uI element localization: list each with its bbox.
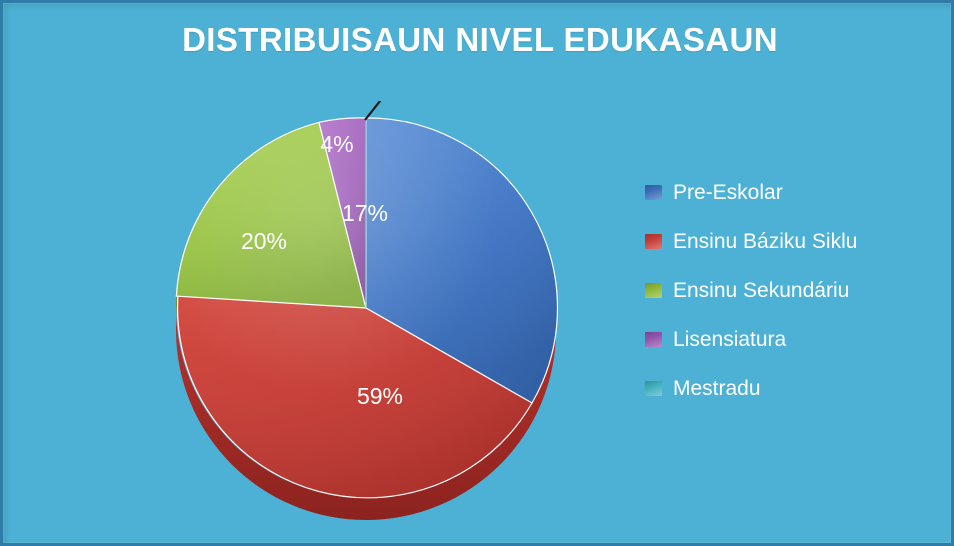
legend-swatch-icon-pre-eskolar bbox=[645, 185, 662, 200]
leader-line-mestradu bbox=[365, 101, 404, 120]
data-label-pre-eskolar: 17% bbox=[342, 200, 388, 226]
legend-item-ensinu-sekundariu[interactable]: Ensinu Sekundáriu bbox=[645, 266, 935, 315]
legend-swatch-icon-mestradu bbox=[645, 381, 662, 396]
legend-item-lisensiatura[interactable]: Lisensiatura bbox=[645, 315, 935, 364]
legend-swatch-icon-ensinu-baziku-siklu bbox=[645, 234, 662, 249]
legend-label-pre-eskolar: Pre-Eskolar bbox=[673, 182, 783, 203]
pie-gloss-overlay bbox=[176, 118, 556, 498]
legend-label-ensinu-baziku-siklu: Ensinu Báziku Siklu bbox=[673, 231, 857, 252]
legend-label-ensinu-sekundariu: Ensinu Sekundáriu bbox=[673, 280, 849, 301]
data-label-ensinu-baziku-siklu: 59% bbox=[357, 383, 403, 409]
data-label-mestradu: 0% bbox=[409, 101, 442, 106]
legend-item-mestradu[interactable]: Mestradu bbox=[645, 364, 935, 413]
legend: Pre-Eskolar Ensinu Báziku Siklu Ensinu S… bbox=[645, 168, 935, 413]
legend-label-lisensiatura: Lisensiatura bbox=[673, 329, 786, 350]
data-label-lisensiatura: 4% bbox=[320, 131, 353, 157]
legend-swatch-icon-ensinu-sekundariu bbox=[645, 283, 662, 298]
pie-plot-area: 17% 59% 20% 4% 0% bbox=[151, 101, 581, 521]
legend-label-mestradu: Mestradu bbox=[673, 378, 761, 399]
legend-item-pre-eskolar[interactable]: Pre-Eskolar bbox=[645, 168, 935, 217]
data-label-ensinu-sekundariu: 20% bbox=[241, 228, 287, 254]
legend-swatch-icon-lisensiatura bbox=[645, 332, 662, 347]
chart-title: DISTRIBUISAUN NIVEL EDUKASAUN bbox=[3, 21, 954, 59]
pie-chart-image: DISTRIBUISAUN NIVEL EDUKASAUN bbox=[0, 0, 954, 546]
legend-item-ensinu-baziku-siklu[interactable]: Ensinu Báziku Siklu bbox=[645, 217, 935, 266]
pie-svg: 17% 59% 20% 4% 0% bbox=[151, 101, 581, 521]
